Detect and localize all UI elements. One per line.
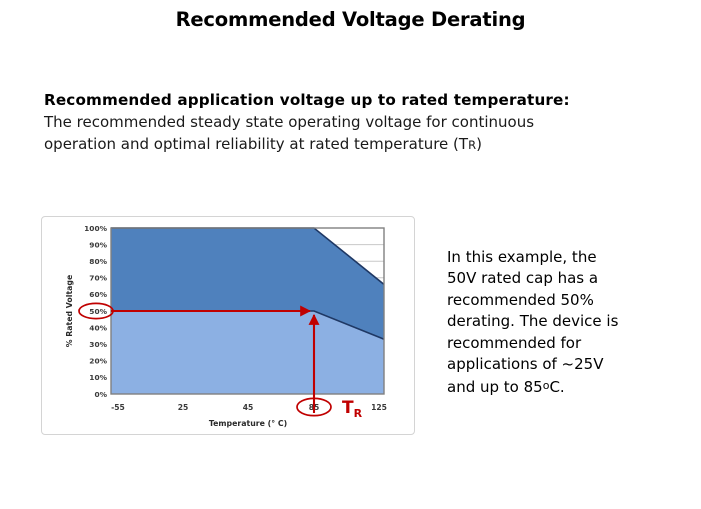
description-heading: Recommended application voltage up to ra…: [44, 90, 644, 111]
derating-chart-container: 100% 90% 80% 70% 60% 50% 40% 30% 20% 10%…: [41, 216, 415, 435]
example-line-7: and up to 85oC.: [447, 375, 662, 398]
example-line-4: derating. The device is: [447, 311, 662, 332]
example-line-1: In this example, the: [447, 247, 662, 268]
derating-chart: 100% 90% 80% 70% 60% 50% 40% 30% 20% 10%…: [42, 217, 414, 434]
x-tick-125: 125: [371, 403, 387, 412]
x-tick-45: 45: [243, 403, 254, 412]
y-tick-30: 30%: [89, 340, 107, 349]
example-line-7-text: and up to 85: [447, 378, 543, 396]
tr-label-subscript: R: [354, 407, 363, 420]
tr-label: TR: [342, 398, 363, 420]
example-text-block: In this example, the 50V rated cap has a…: [447, 247, 662, 399]
x-axis-title-suffix: C): [275, 419, 287, 428]
x-tick-25: 25: [178, 403, 189, 412]
x-axis-title-prefix: Temperature (: [209, 419, 271, 428]
tr-label-t: T: [342, 398, 354, 418]
example-line-6: applications of ~25V: [447, 354, 662, 375]
description-line-2: operation and optimal reliability at rat…: [44, 133, 644, 156]
y-tick-20: 20%: [89, 357, 107, 366]
x-axis-title: Temperature (° C): [209, 419, 287, 428]
example-line-5: recommended for: [447, 333, 662, 354]
y-tick-80: 80%: [89, 257, 107, 266]
y-axis-title: % Rated Voltage: [65, 275, 74, 348]
y-tick-60: 60%: [89, 290, 107, 299]
y-tick-100: 100%: [84, 224, 107, 233]
y-axis-ticks: 100% 90% 80% 70% 60% 50% 40% 30% 20% 10%…: [84, 224, 107, 399]
example-line-3: recommended 50%: [447, 290, 662, 311]
rated-temperature-subscript: R: [468, 138, 476, 152]
y-tick-10: 10%: [89, 373, 107, 382]
y-tick-70: 70%: [89, 274, 107, 283]
x-tick-minus55: -55: [111, 403, 125, 412]
description-block: Recommended application voltage up to ra…: [44, 90, 644, 156]
description-close-paren: ): [476, 135, 482, 153]
example-line-7-suffix: C.: [549, 378, 564, 396]
y-tick-40: 40%: [89, 323, 107, 332]
y-tick-90: 90%: [89, 240, 107, 249]
description-line-1: The recommended steady state operating v…: [44, 111, 644, 133]
page-title: Recommended Voltage Derating: [0, 8, 701, 31]
description-line-2-text: operation and optimal reliability at rat…: [44, 135, 468, 153]
y-tick-50: 50%: [89, 307, 107, 316]
example-line-2: 50V rated cap has a: [447, 268, 662, 289]
y-tick-0: 0%: [94, 390, 107, 399]
